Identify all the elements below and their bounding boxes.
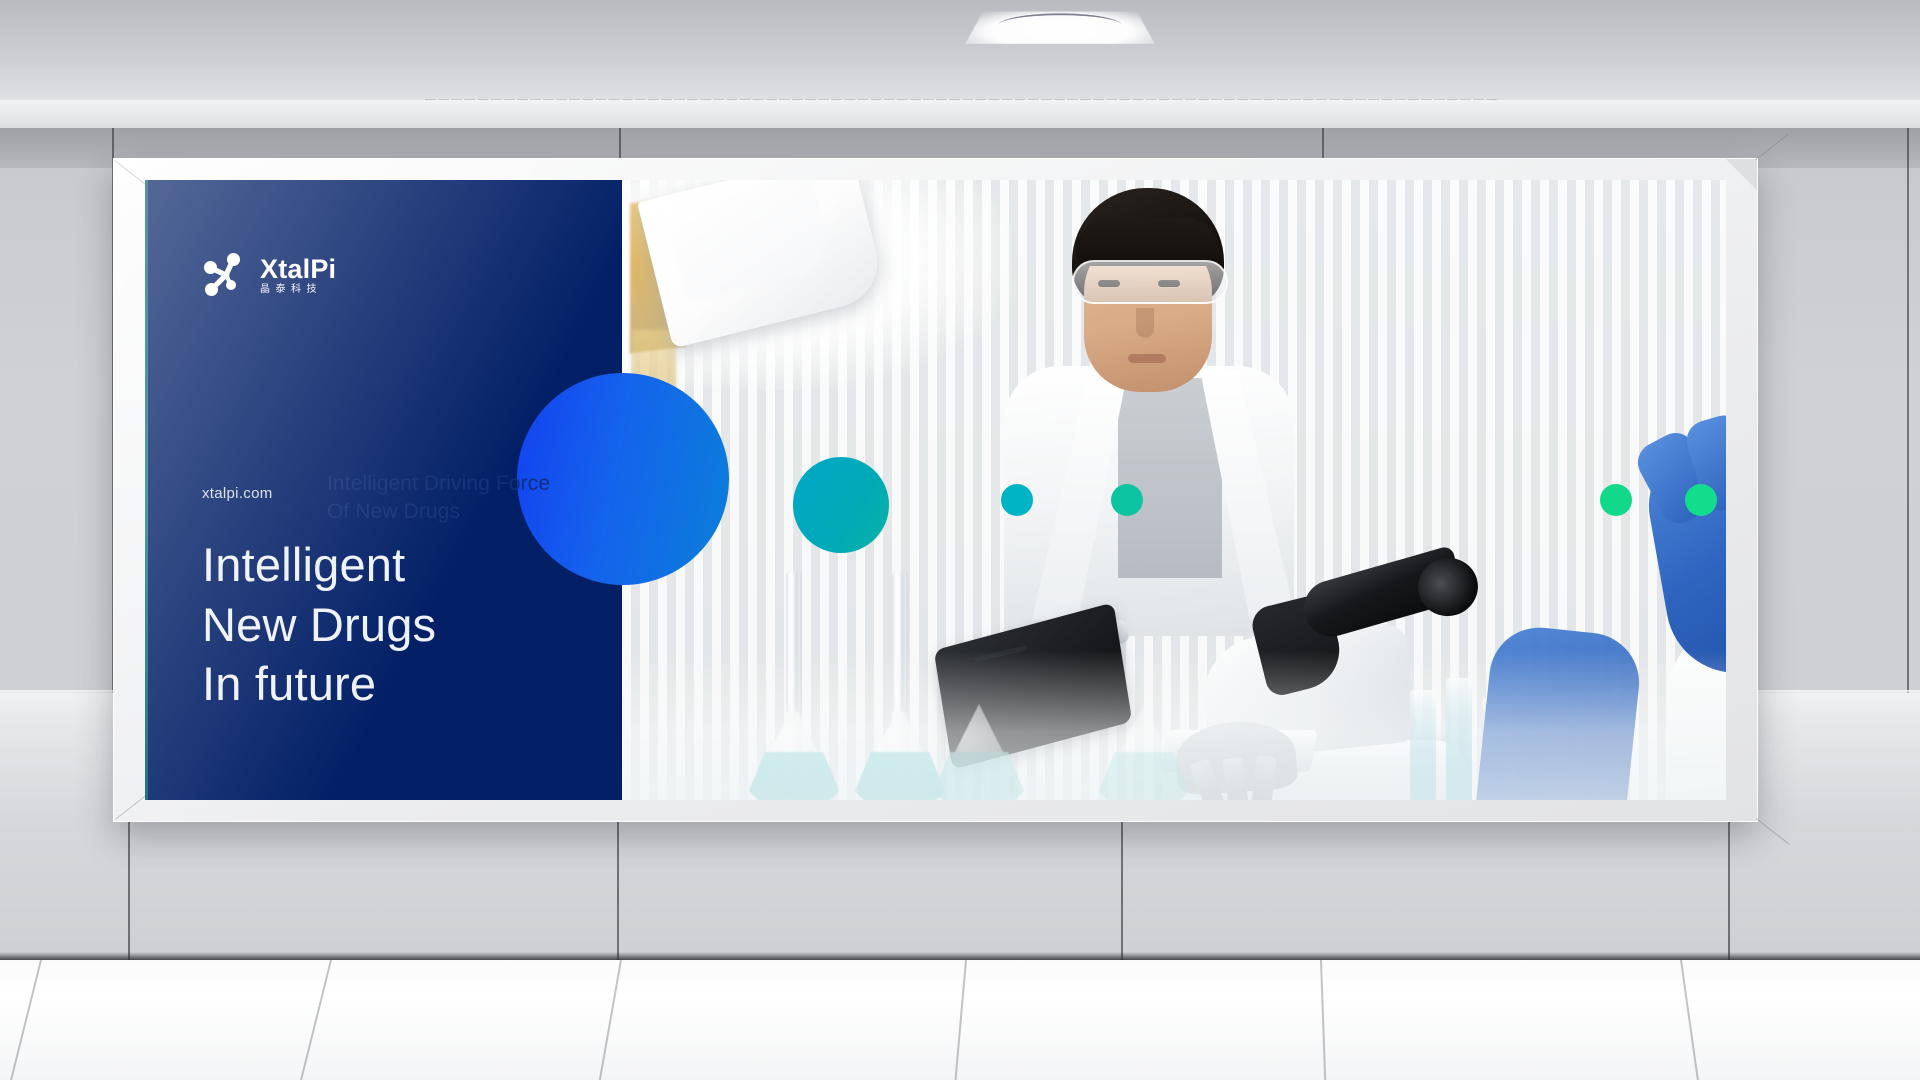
headline-line-2: New Drugs xyxy=(202,595,436,655)
accent-dot xyxy=(1685,484,1717,516)
floor-grout-line xyxy=(1680,960,1700,1080)
accent-dot xyxy=(1600,484,1632,516)
volumetric-flask xyxy=(934,658,1024,800)
objective-lens xyxy=(1251,755,1276,800)
blue-nitrile-glove xyxy=(1474,623,1644,800)
poster-headline: Intelligent New Drugs In future xyxy=(202,535,436,714)
floor-grout-line xyxy=(9,960,42,1080)
flask-liquid xyxy=(742,752,846,800)
billboard-frame[interactable]: XtalPi 晶泰科技 xtalpi.com Intelligent New D… xyxy=(113,158,1758,822)
lab-photograph xyxy=(622,180,1726,800)
subhead-line-2: Of New Drugs xyxy=(327,498,550,526)
floor-grout-line xyxy=(954,960,967,1080)
poster-artwork[interactable]: XtalPi 晶泰科技 xtalpi.com Intelligent New D… xyxy=(145,180,1726,800)
tiled-floor xyxy=(0,960,1920,1080)
panel-edge-accent xyxy=(145,180,148,800)
objective-lens xyxy=(1222,757,1249,800)
floor-grout-line xyxy=(299,960,332,1080)
billboard-scene: XtalPi 晶泰科技 xtalpi.com Intelligent New D… xyxy=(0,0,1920,1080)
accent-circle-medium xyxy=(793,457,889,553)
flask-liquid xyxy=(927,752,1031,800)
safety-goggles xyxy=(1072,260,1228,304)
nose xyxy=(1136,308,1154,338)
flask-liquid xyxy=(1092,752,1196,800)
website-url[interactable]: xtalpi.com xyxy=(202,485,273,502)
headline-line-1: Intelligent xyxy=(202,535,436,595)
hair-fringe xyxy=(1076,218,1220,266)
brand-chinese-name: 晶泰科技 xyxy=(260,285,336,295)
subhead-line-1: Intelligent Driving Force xyxy=(327,470,550,498)
headline-line-3: In future xyxy=(202,654,436,714)
mouth xyxy=(1128,354,1166,363)
accent-dot xyxy=(1111,484,1143,516)
brand-logo[interactable]: XtalPi 晶泰科技 xyxy=(202,253,336,297)
flask-neck xyxy=(893,572,908,712)
poster-subheadline: Intelligent Driving Force Of New Drugs xyxy=(327,470,550,526)
floor-grout-line xyxy=(597,960,622,1080)
volumetric-flask xyxy=(1092,688,1196,800)
brand-wordmark: XtalPi xyxy=(260,256,336,283)
molecule-icon xyxy=(202,253,248,297)
test-tube xyxy=(1446,678,1472,800)
flask-neck xyxy=(787,572,802,712)
volumetric-flask xyxy=(742,564,846,800)
floor-grout-line xyxy=(1320,960,1327,1080)
accent-dot xyxy=(1001,484,1033,516)
test-tube xyxy=(1410,690,1436,800)
